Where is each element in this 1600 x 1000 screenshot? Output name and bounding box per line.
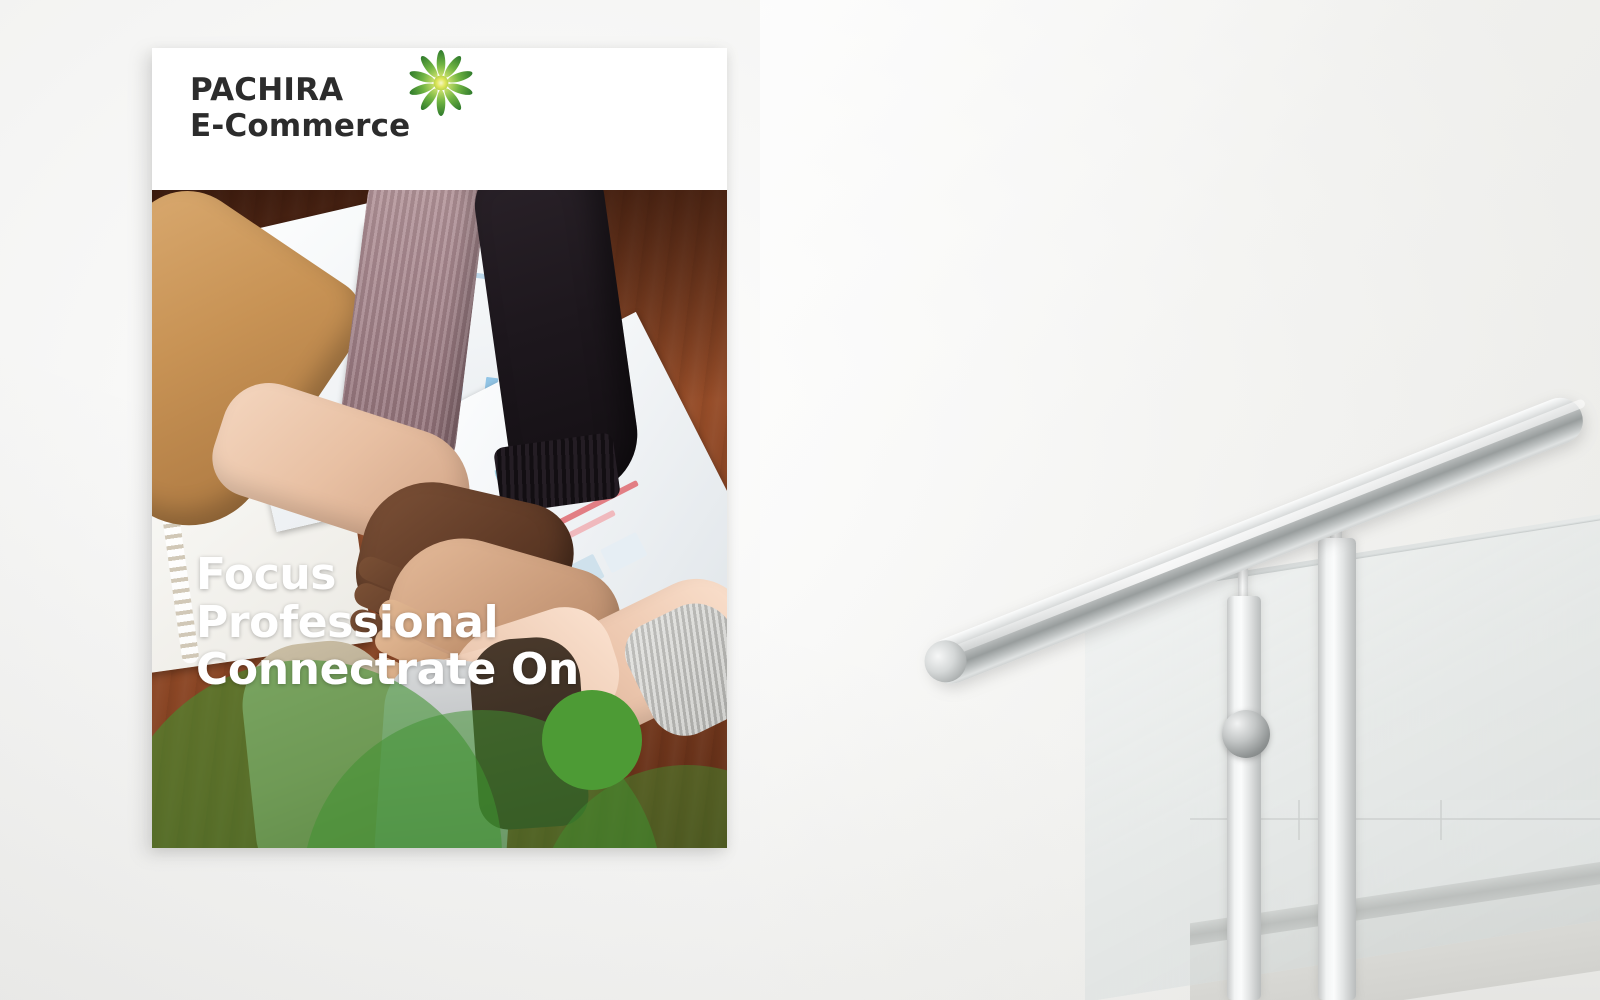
headline-line-2: Professional [196,599,579,647]
brand-wordmark: PACHIRA E-Commerce [190,74,410,142]
brand-name-line-1: PACHIRA [190,74,410,106]
pachira-flower-logo [408,50,474,116]
poster-artwork[interactable]: Focus Professional Connectrate On PACHIR… [152,48,727,848]
handrail-highlight [932,398,1587,663]
report-block [600,532,647,573]
brand-logo: PACHIRA E-Commerce [190,74,474,142]
green-accent-circle [542,690,642,790]
poster-header-band: PACHIRA E-Commerce [152,48,727,190]
poster-photo [152,190,727,848]
rail-ball-joint [1222,710,1270,758]
headline-line-1: Focus [196,551,579,599]
headline-line-3: Connectrate On [196,646,579,694]
brand-name-line-2: E-Commerce [190,110,410,142]
poster-headline: Focus Professional Connectrate On [196,551,579,694]
poster-mockup-scene: Focus Professional Connectrate On PACHIR… [0,0,1600,1000]
stair-handrail [930,330,1600,710]
